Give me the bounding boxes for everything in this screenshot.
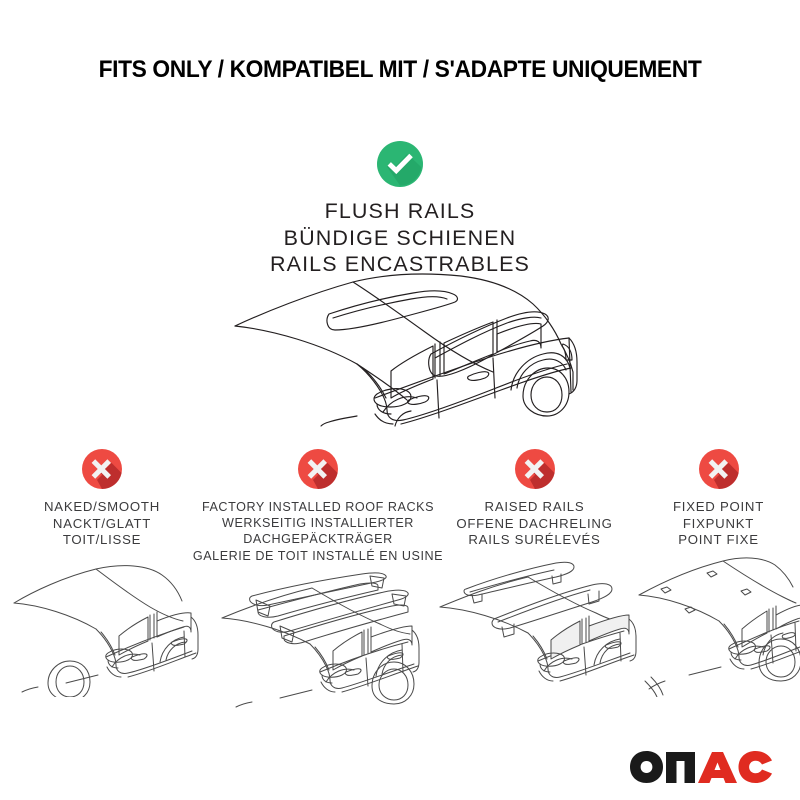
option-factory-roof-racks: FACTORY INSTALLED ROOF RACKS WERKSEITIG … (204, 448, 432, 748)
check-circle-icon (376, 140, 424, 188)
logo-letter-a (698, 752, 737, 783)
hero-compatible-block: FLUSH RAILS BÜNDIGE SCHIENEN RAILS ENCAS… (0, 140, 800, 278)
suv-with-flush-roof-rails-illustration (225, 268, 595, 438)
x-circle-icon (81, 448, 123, 490)
car-with-raised-rails-illustration (432, 549, 637, 748)
option-label-de: FIXPUNKT (673, 516, 764, 533)
hero-label-de: BÜNDIGE SCHIENEN (0, 225, 800, 252)
incompatible-options-row: NAKED/SMOOTH NACKT/GLATT TOIT/LISSE (0, 448, 800, 748)
option-label-de: OFFENE DACHRELING (456, 516, 612, 533)
option-label-en: FIXED POINT (673, 499, 764, 516)
option-fixed-point: FIXED POINT FIXPUNKT POINT FIXE (637, 448, 800, 748)
option-naked-smooth: NAKED/SMOOTH NACKT/GLATT TOIT/LISSE (0, 448, 204, 748)
option-label-group: FIXED POINT FIXPUNKT POINT FIXE (673, 499, 764, 549)
hero-label-en: FLUSH RAILS (0, 198, 800, 225)
logo-letter-c (739, 751, 773, 783)
option-label-de-1: WERKSEITIG INSTALLIERTER (193, 515, 443, 531)
option-label-group: FACTORY INSTALLED ROOF RACKS WERKSEITIG … (193, 499, 443, 564)
logo-letter-o (630, 751, 663, 783)
car-with-factory-roof-racks-illustration (204, 562, 432, 746)
page-title: FITS ONLY / KOMPATIBEL MIT / S'ADAPTE UN… (28, 56, 772, 84)
x-circle-icon (514, 448, 556, 490)
option-label-en: NAKED/SMOOTH (44, 499, 160, 516)
car-with-naked-smooth-roof-illustration (0, 557, 204, 756)
option-label-fr: RAILS SURÉLEVÉS (456, 532, 612, 549)
option-label-fr: TOIT/LISSE (44, 532, 160, 549)
option-label-group: NAKED/SMOOTH NACKT/GLATT TOIT/LISSE (44, 499, 160, 549)
option-label-de: NACKT/GLATT (44, 516, 160, 533)
option-label-en: RAISED RAILS (456, 499, 612, 516)
car-with-fixed-point-roof-illustration (637, 547, 800, 746)
hero-label-group: FLUSH RAILS BÜNDIGE SCHIENEN RAILS ENCAS… (0, 198, 800, 278)
x-circle-icon (698, 448, 740, 490)
option-label-de-2: DACHGEPÄCKTRÄGER (193, 531, 443, 547)
option-label-en: FACTORY INSTALLED ROOF RACKS (193, 499, 443, 515)
option-raised-rails: RAISED RAILS OFFENE DACHRELING RAILS SUR… (432, 448, 637, 748)
option-label-group: RAISED RAILS OFFENE DACHRELING RAILS SUR… (456, 499, 612, 549)
omac-logo (628, 750, 774, 784)
logo-letter-m (666, 752, 695, 783)
x-circle-icon (297, 448, 339, 490)
